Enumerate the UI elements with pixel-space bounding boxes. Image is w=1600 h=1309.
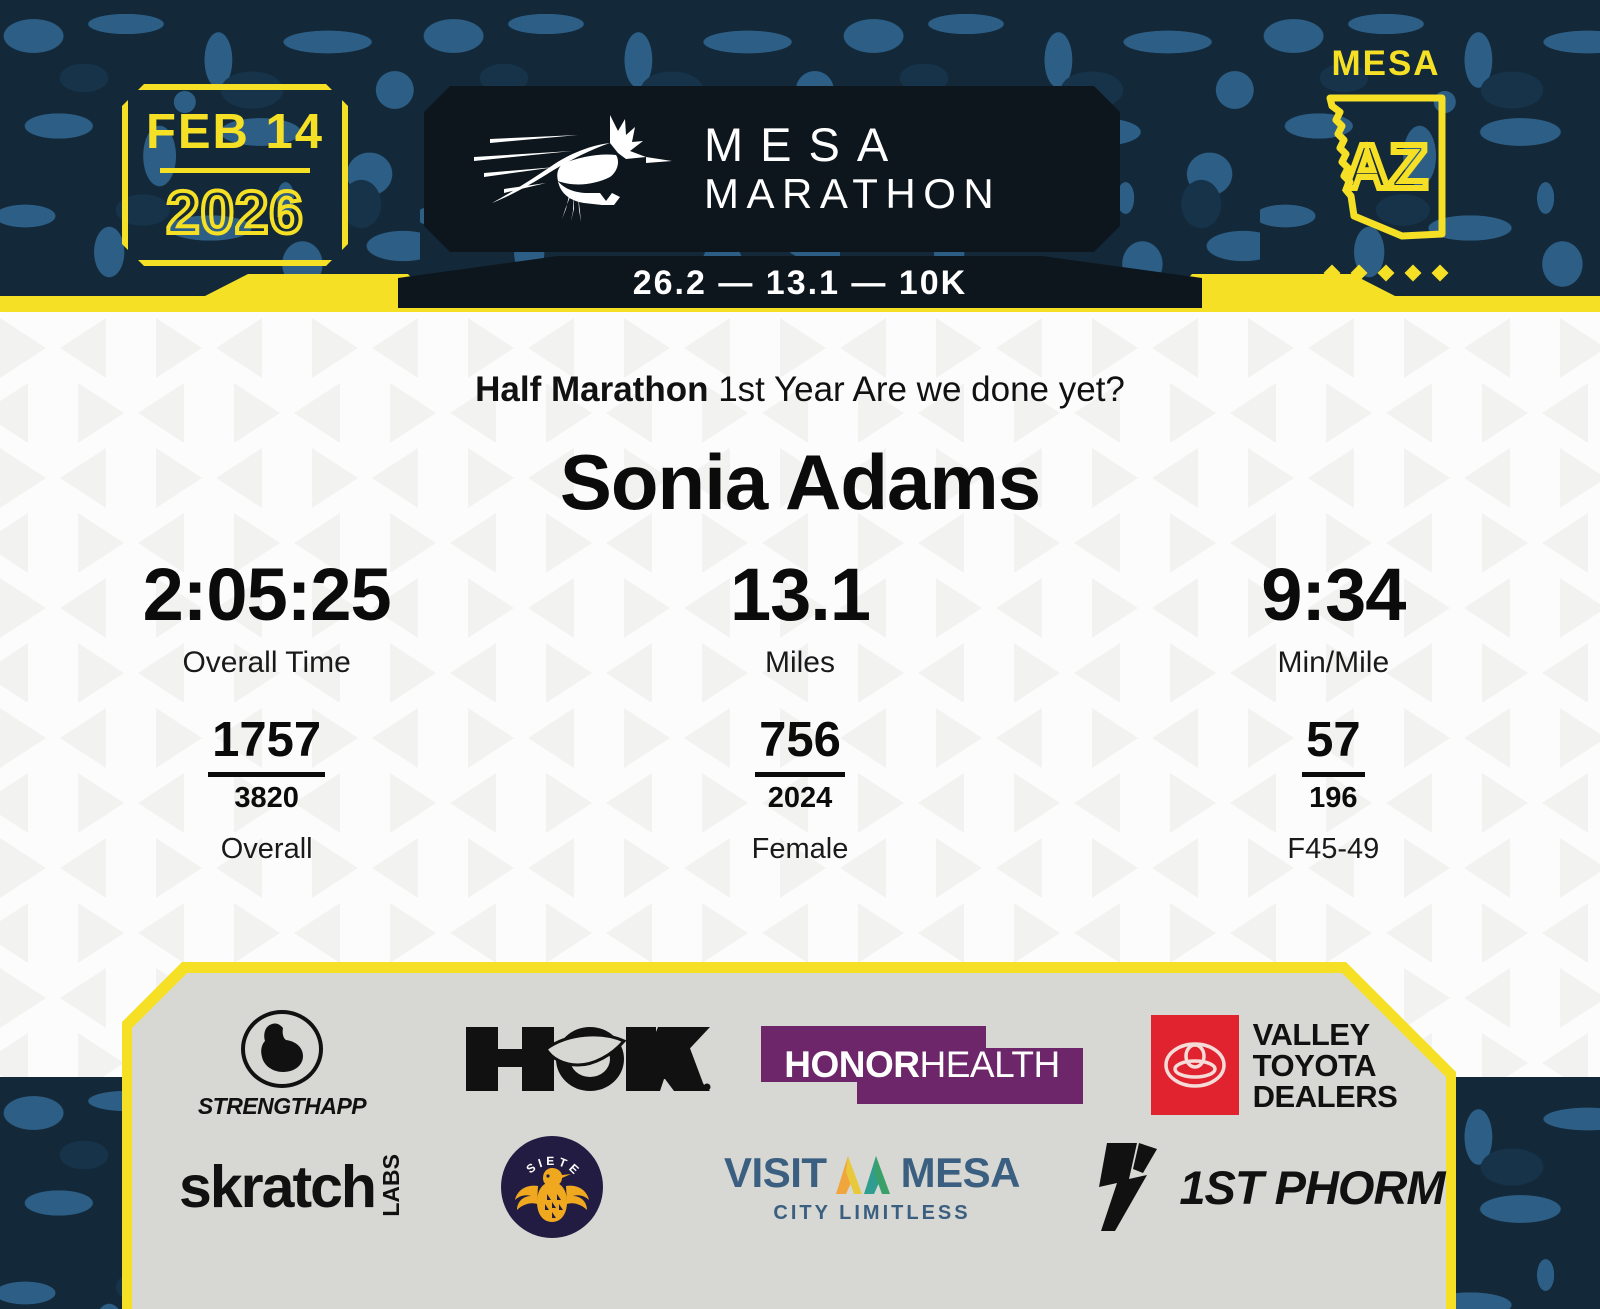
roadrunner-icon	[460, 109, 680, 229]
bicep-glyph	[255, 1020, 309, 1078]
sponsor-visit-mesa: VISIT MESA CITY LIMITLESS	[652, 1132, 1092, 1242]
event-month-day: FEB 14	[146, 108, 324, 157]
sponsor-name-2: MESA	[901, 1149, 1020, 1197]
rank-fraction: 57 196	[1302, 716, 1365, 813]
az-badge-abbr: AZ	[1345, 133, 1428, 202]
rank-numerator: 756	[755, 716, 845, 777]
race-result-certificate: FEB 14 2026 MESA MARATHON	[0, 0, 1600, 1309]
sponsor-valley-toyota: VALLEY TOYOTA DEALERS	[1102, 1010, 1446, 1120]
event-date-badge: FEB 14 2026	[122, 84, 348, 266]
rank-numerator: 1757	[208, 716, 325, 777]
az-dot	[1405, 265, 1422, 282]
stat-value: 9:34	[1261, 556, 1405, 634]
runner-name: Sonia Adams	[0, 437, 1600, 528]
stat-label: Overall Time	[182, 646, 350, 680]
arizona-state-outline-icon: AZ	[1296, 84, 1476, 256]
stat-value: 2:05:25	[143, 556, 391, 634]
logo-line-marathon: MARATHON	[704, 170, 1001, 218]
phorm-mark-icon	[1093, 1139, 1163, 1235]
race-distances-text: 26.2 — 13.1 — 10K	[633, 264, 968, 303]
siete-badge: SIETE	[501, 1136, 603, 1238]
race-detail: 1st Year Are we done yet?	[718, 370, 1125, 409]
rank-label: Female	[752, 833, 849, 866]
sponsor-name-1: VISIT	[724, 1149, 827, 1197]
az-dot	[1432, 265, 1449, 282]
rank-denominator: 3820	[234, 784, 299, 813]
toyota-emblem-glyph	[1164, 1042, 1226, 1088]
rank-label: Overall	[221, 833, 313, 866]
sponsor-tagline: CITY LIMITLESS	[773, 1202, 970, 1225]
rank-fraction: 756 2024	[755, 716, 845, 813]
stat-column-miles: 13.1 Miles 756 2024 Female	[533, 556, 1066, 866]
sponsor-sub-name: LABS	[378, 1154, 405, 1217]
siete-bird-icon: SIETE	[505, 1140, 599, 1234]
sponsor-line-2: TOYOTA	[1253, 1050, 1398, 1081]
sponsor-strengthapp: STRENGTHAPP	[132, 1010, 432, 1120]
race-distances-badge: 26.2 — 13.1 — 10K	[398, 256, 1202, 308]
stat-value: 13.1	[730, 556, 870, 634]
sponsor-name: skratch	[179, 1153, 375, 1221]
toyota-emblem-icon	[1151, 1015, 1239, 1115]
mesa-marathon-logo: MESA MARATHON	[424, 86, 1120, 252]
rank-fraction: 1757 3820	[208, 716, 325, 813]
event-year: 2026	[166, 183, 303, 243]
sponsor-skratch-labs: skratch LABS	[132, 1132, 452, 1242]
sponsor-line-3: DEALERS	[1253, 1081, 1398, 1112]
sponsor-row-1: STRENGTHAPP	[132, 1010, 1446, 1120]
logo-line-mesa: MESA	[704, 120, 1001, 170]
sponsor-siete: SIETE	[452, 1132, 652, 1242]
sponsor-name-bold: HONOR	[784, 1044, 919, 1086]
stat-label: Miles	[765, 646, 835, 680]
sponsor-name-light: HEALTH	[920, 1044, 1060, 1086]
sponsor-hoka	[432, 1010, 742, 1120]
rank-label: F45-49	[1287, 833, 1379, 866]
rank-denominator: 2024	[768, 784, 833, 813]
az-badge-label: MESA	[1296, 44, 1476, 84]
sponsor-row-2: skratch LABS SIETE	[132, 1132, 1446, 1242]
visit-mesa-m-icon	[832, 1150, 896, 1196]
stat-column-overall-time: 2:05:25 Overall Time 1757 3820 Overall	[0, 556, 533, 866]
az-dot	[1378, 265, 1395, 282]
stats-row: 2:05:25 Overall Time 1757 3820 Overall 1…	[0, 556, 1600, 866]
rank-numerator: 57	[1302, 716, 1365, 777]
visit-mesa-wordmark: VISIT MESA	[724, 1149, 1020, 1197]
stat-label: Min/Mile	[1277, 646, 1389, 680]
sponsor-name: 1ST PHORM	[1179, 1160, 1444, 1215]
race-subtitle: Half Marathon 1st Year Are we done yet?	[0, 370, 1600, 410]
bicep-icon	[241, 1010, 323, 1088]
rank-denominator: 196	[1309, 784, 1357, 813]
race-name: Half Marathon	[475, 370, 708, 409]
sponsor-name: STRENGTHAPP	[198, 1093, 366, 1120]
valley-toyota-wordmark: VALLEY TOYOTA DEALERS	[1253, 1019, 1398, 1112]
mesa-az-badge: MESA AZ	[1296, 44, 1476, 292]
sponsor-honorhealth: HONORHEALTH	[742, 1010, 1102, 1120]
stat-column-pace: 9:34 Min/Mile 57 196 F45-49	[1067, 556, 1600, 866]
sponsor-line-1: VALLEY	[1253, 1019, 1398, 1050]
sponsor-name	[462, 1015, 712, 1115]
date-divider	[160, 168, 310, 173]
sponsor-1st-phorm: 1ST PHORM	[1092, 1132, 1446, 1242]
honorhealth-wordmark: HONORHEALTH	[761, 1026, 1083, 1104]
hoka-logo-icon	[462, 1015, 712, 1099]
